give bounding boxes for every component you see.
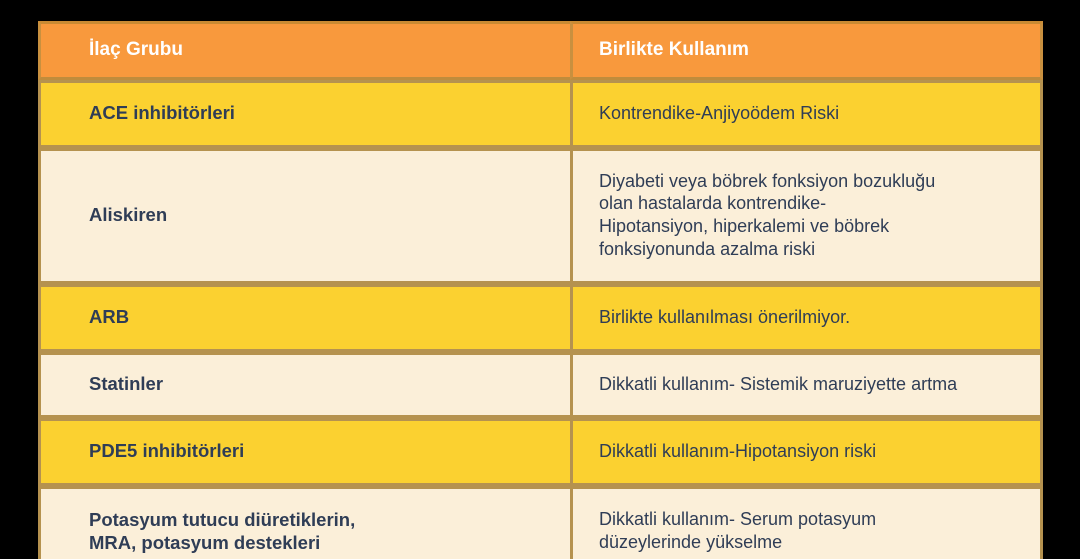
cell-combined-use: Dikkatli kullanım-Hipotansiyon riski — [570, 418, 1043, 486]
cell-combined-use: Birlikte kullanılması önerilmiyor. — [570, 284, 1043, 352]
screenshot-canvas: İlaç Grubu Birlikte Kullanım ACE inhibit… — [0, 0, 1080, 559]
table-row: ARB Birlikte kullanılması önerilmiyor. — [38, 284, 1043, 352]
cell-combined-use: Diyabeti veya böbrek fonksiyon bozukluğu… — [570, 148, 1043, 284]
cell-drug-group: Aliskiren — [38, 148, 570, 284]
cell-drug-group: ACE inhibitörleri — [38, 80, 570, 148]
column-header-ilac-grubu: İlaç Grubu — [38, 21, 570, 80]
table-header-row: İlaç Grubu Birlikte Kullanım — [38, 21, 1043, 80]
table-body: ACE inhibitörleri Kontrendike-Anjiyoödem… — [38, 80, 1043, 559]
table-row: ACE inhibitörleri Kontrendike-Anjiyoödem… — [38, 80, 1043, 148]
cell-combined-use: Dikkatli kullanım- Serum potasyum düzeyl… — [570, 486, 1043, 559]
table-row: PDE5 inhibitörleri Dikkatli kullanım-Hip… — [38, 418, 1043, 486]
cell-combined-use: Kontrendike-Anjiyoödem Riski — [570, 80, 1043, 148]
cell-drug-group: PDE5 inhibitörleri — [38, 418, 570, 486]
table-row: Potasyum tutucu diüretiklerin, MRA, pota… — [38, 486, 1043, 559]
cell-drug-group: Statinler — [38, 352, 570, 418]
table-row: Statinler Dikkatli kullanım- Sistemik ma… — [38, 352, 1043, 418]
table-row: Aliskiren Diyabeti veya böbrek fonksiyon… — [38, 148, 1043, 284]
drug-interaction-table: İlaç Grubu Birlikte Kullanım ACE inhibit… — [38, 21, 1043, 559]
cell-drug-group: Potasyum tutucu diüretiklerin, MRA, pota… — [38, 486, 570, 559]
cell-combined-use: Dikkatli kullanım- Sistemik maruziyette … — [570, 352, 1043, 418]
column-header-birlikte-kullanim: Birlikte Kullanım — [570, 21, 1043, 80]
cell-drug-group: ARB — [38, 284, 570, 352]
